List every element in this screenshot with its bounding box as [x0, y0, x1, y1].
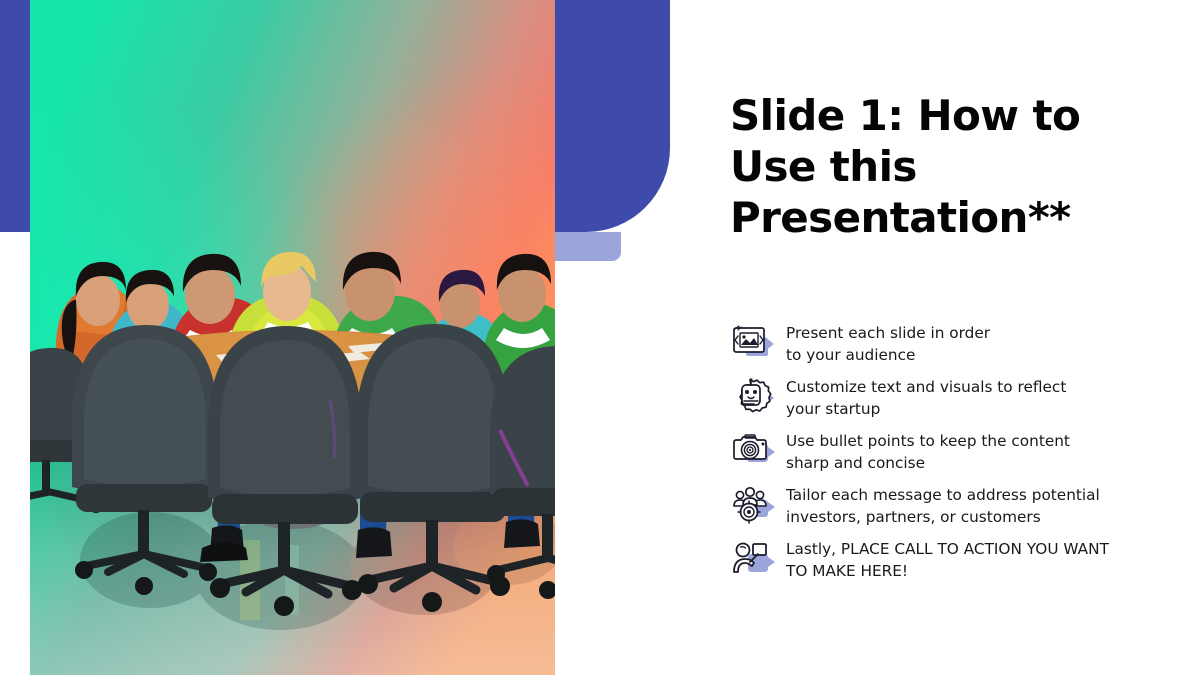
slideshow-image-icon [730, 322, 782, 364]
slide-content-column: Slide 1: How to Use this Presentation** [730, 0, 1150, 675]
robot-gear-icon [730, 376, 782, 418]
list-item: Present each slide in order to your audi… [730, 322, 1150, 366]
presenter-sign-icon [730, 538, 782, 580]
camera-target-icon [730, 430, 782, 472]
list-item: Tailor each message to address potential… [730, 484, 1150, 528]
list-item-label: Use bullet points to keep the content sh… [786, 430, 1150, 474]
list-item: Use bullet points to keep the content sh… [730, 430, 1150, 474]
list-item-label: Customize text and visuals to reflect yo… [786, 376, 1150, 420]
meeting-photo [30, 0, 555, 675]
audience-target-icon [730, 484, 782, 526]
list-item-label: Lastly, PLACE CALL TO ACTION YOU WANT TO… [786, 538, 1150, 582]
presentation-slide: Slide 1: How to Use this Presentation** [0, 0, 1200, 675]
list-item: Customize text and visuals to reflect yo… [730, 376, 1150, 420]
list-item-label: Present each slide in order to your audi… [786, 322, 1150, 366]
page-title: Slide 1: How to Use this Presentation** [730, 90, 1130, 243]
decor-lavender-shape [553, 232, 621, 261]
bullet-list: Present each slide in order to your audi… [730, 322, 1150, 592]
list-item-label: Tailor each message to address potential… [786, 484, 1150, 528]
list-item: Lastly, PLACE CALL TO ACTION YOU WANT TO… [730, 538, 1150, 582]
